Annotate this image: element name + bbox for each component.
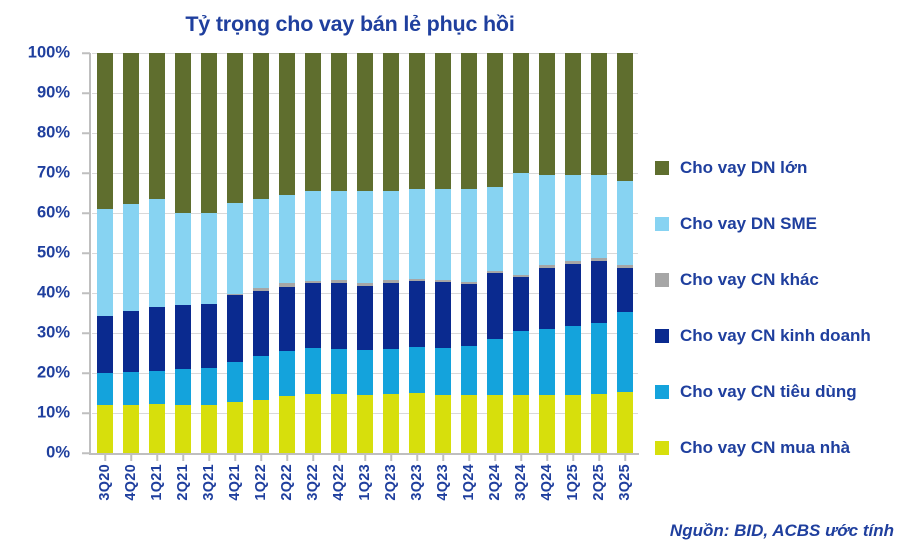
x-axis-label-3Q21: 3Q21 <box>201 464 217 501</box>
x-tick-mark <box>260 455 262 461</box>
y-tick-label-20: 20% <box>37 364 70 383</box>
bar-segment-cn_tieu_dung[interactable] <box>201 368 217 405</box>
bar-stack <box>97 53 113 453</box>
x-axis-label-2Q24: 2Q24 <box>487 464 503 501</box>
bar-segment-cn_mua_nha[interactable] <box>97 405 113 453</box>
bar-segment-cn_kinh_doanh[interactable] <box>253 291 269 356</box>
bar-segment-cn_mua_nha[interactable] <box>383 394 399 453</box>
legend-swatch-icon-cn_mua_nha <box>655 441 669 455</box>
bar-segment-dn_sme[interactable] <box>617 181 633 265</box>
bar-segment-dn_lon[interactable] <box>461 53 477 189</box>
bar-segment-cn_tieu_dung[interactable] <box>409 347 425 393</box>
bar-segment-dn_sme[interactable] <box>409 189 425 279</box>
x-label-cell: 3Q23 <box>404 455 430 515</box>
bar-segment-cn_mua_nha[interactable] <box>461 395 477 453</box>
bar-segment-cn_tieu_dung[interactable] <box>149 371 165 404</box>
bar-column-3Q21[interactable] <box>196 53 222 453</box>
bar-stack <box>513 53 529 453</box>
x-label-cell: 3Q24 <box>508 455 534 515</box>
x-axis-label-1Q24: 1Q24 <box>461 464 477 501</box>
legend-label: Cho vay CN tiêu dùng <box>680 382 857 402</box>
bar-column-1Q24[interactable] <box>456 53 482 453</box>
bar-column-4Q22[interactable] <box>326 53 352 453</box>
bar-stack <box>149 53 165 453</box>
y-tick-mark-50 <box>82 252 90 254</box>
bar-stack <box>539 53 555 453</box>
bar-segment-cn_tieu_dung[interactable] <box>331 349 347 394</box>
bar-segment-cn_kinh_doanh[interactable] <box>487 273 503 339</box>
x-axis-label-2Q22: 2Q22 <box>279 464 295 501</box>
bar-segment-cn_tieu_dung[interactable] <box>591 323 607 394</box>
bar-segment-cn_tieu_dung[interactable] <box>435 348 451 395</box>
bar-segment-dn_lon[interactable] <box>227 53 243 203</box>
legend-swatch-icon-dn_sme <box>655 217 669 231</box>
legend-swatch-icon-cn_tieu_dung <box>655 385 669 399</box>
x-tick-mark <box>312 455 314 461</box>
bar-stack <box>487 53 503 453</box>
x-label-cell: 4Q22 <box>326 455 352 515</box>
bar-segment-cn_tieu_dung[interactable] <box>461 346 477 395</box>
bar-stack <box>201 53 217 453</box>
bar-segment-dn_lon[interactable] <box>487 53 503 187</box>
plot-area <box>92 53 638 453</box>
x-tick-mark <box>104 455 106 461</box>
bar-segment-cn_mua_nha[interactable] <box>331 394 347 453</box>
y-tick-mark-0 <box>82 452 90 454</box>
bar-segment-dn_lon[interactable] <box>175 53 191 213</box>
x-label-cell: 2Q24 <box>482 455 508 515</box>
bar-segment-dn_lon[interactable] <box>383 53 399 191</box>
bar-segment-cn_mua_nha[interactable] <box>279 396 295 453</box>
bar-segment-dn_lon[interactable] <box>565 53 581 175</box>
x-tick-mark <box>390 455 392 461</box>
bar-column-1Q22[interactable] <box>248 53 274 453</box>
y-tick-label-100: 100% <box>28 44 70 63</box>
bar-segment-cn_mua_nha[interactable] <box>357 395 373 453</box>
x-axis-label-4Q24: 4Q24 <box>539 464 555 501</box>
legend-label: Cho vay CN kinh doanh <box>680 326 871 346</box>
bar-column-2Q23[interactable] <box>378 53 404 453</box>
y-tick-label-80: 80% <box>37 124 70 143</box>
x-axis-label-1Q23: 1Q23 <box>357 464 373 501</box>
y-tick-mark-90 <box>82 92 90 94</box>
bar-segment-dn_lon[interactable] <box>279 53 295 195</box>
bar-segment-dn_sme[interactable] <box>461 189 477 282</box>
x-tick-mark <box>286 455 288 461</box>
bar-segment-cn_tieu_dung[interactable] <box>97 373 113 405</box>
x-label-cell: 3Q22 <box>300 455 326 515</box>
bar-segment-dn_sme[interactable] <box>331 191 347 280</box>
bar-segment-dn_lon[interactable] <box>617 53 633 181</box>
bar-segment-dn_sme[interactable] <box>253 199 269 288</box>
x-axis-label-4Q23: 4Q23 <box>435 464 451 501</box>
bar-segment-cn_tieu_dung[interactable] <box>539 329 555 395</box>
bar-column-3Q22[interactable] <box>300 53 326 453</box>
x-label-cell: 2Q25 <box>586 455 612 515</box>
x-label-cell: 4Q23 <box>430 455 456 515</box>
chart-container: Tỷ trọng cho vay bán lẻ phục hồi 0%10%20… <box>0 0 906 553</box>
bar-segment-cn_tieu_dung[interactable] <box>253 356 269 400</box>
bar-segment-cn_tieu_dung[interactable] <box>565 326 581 395</box>
bar-segment-cn_kinh_doanh[interactable] <box>513 277 529 331</box>
x-axis-label-3Q25: 3Q25 <box>617 464 633 501</box>
bar-segment-dn_sme[interactable] <box>539 175 555 265</box>
y-axis: 0%10%20%30%40%50%60%70%80%90%100% <box>0 53 78 453</box>
bar-segment-cn_tieu_dung[interactable] <box>513 331 529 395</box>
bar-segment-cn_kinh_doanh[interactable] <box>331 283 347 349</box>
x-label-cell: 1Q22 <box>248 455 274 515</box>
bar-segment-dn_sme[interactable] <box>97 209 113 316</box>
bar-segment-dn_sme[interactable] <box>123 204 139 311</box>
bar-segment-cn_kinh_doanh[interactable] <box>227 295 243 362</box>
bar-segment-cn_tieu_dung[interactable] <box>305 348 321 394</box>
x-tick-mark <box>468 455 470 461</box>
bar-column-3Q24[interactable] <box>508 53 534 453</box>
bar-segment-dn_sme[interactable] <box>357 191 373 283</box>
bar-segment-cn_kinh_doanh[interactable] <box>435 282 451 348</box>
bar-segment-cn_kinh_doanh[interactable] <box>383 283 399 349</box>
x-axis-label-3Q22: 3Q22 <box>305 464 321 501</box>
x-tick-mark <box>520 455 522 461</box>
bar-segment-dn_lon[interactable] <box>331 53 347 191</box>
x-label-cell: 1Q21 <box>144 455 170 515</box>
bar-segment-dn_lon[interactable] <box>305 53 321 191</box>
x-axis-label-3Q24: 3Q24 <box>513 464 529 501</box>
y-tick-mark-40 <box>82 292 90 294</box>
bar-column-4Q24[interactable] <box>534 53 560 453</box>
bar-segment-cn_mua_nha[interactable] <box>487 395 503 453</box>
x-axis-label-4Q21: 4Q21 <box>227 464 243 501</box>
x-axis-label-1Q25: 1Q25 <box>565 464 581 501</box>
bar-segment-cn_kinh_doanh[interactable] <box>461 284 477 346</box>
x-tick-mark <box>442 455 444 461</box>
bar-segment-dn_lon[interactable] <box>591 53 607 175</box>
bar-segment-dn_sme[interactable] <box>227 203 243 294</box>
bar-stack <box>331 53 347 453</box>
bar-segment-dn_lon[interactable] <box>97 53 113 209</box>
bar-stack <box>565 53 581 453</box>
bar-stack <box>305 53 321 453</box>
bar-segment-cn_mua_nha[interactable] <box>513 395 529 453</box>
bar-segment-cn_tieu_dung[interactable] <box>383 349 399 394</box>
bar-stack <box>123 53 139 453</box>
bar-segment-dn_lon[interactable] <box>539 53 555 175</box>
bar-segment-dn_lon[interactable] <box>201 53 217 213</box>
x-tick-mark <box>364 455 366 461</box>
x-tick-mark <box>234 455 236 461</box>
y-tick-mark-30 <box>82 332 90 334</box>
bar-segment-cn_kinh_doanh[interactable] <box>175 305 191 369</box>
chart-legend: Cho vay DN lớnCho vay DN SMECho vay CN k… <box>655 140 905 476</box>
bar-segment-cn_tieu_dung[interactable] <box>617 312 633 392</box>
y-tick-label-70: 70% <box>37 164 70 183</box>
bar-stack <box>253 53 269 453</box>
bar-stack <box>279 53 295 453</box>
x-axis-label-2Q23: 2Q23 <box>383 464 399 501</box>
bar-segment-dn_lon[interactable] <box>149 53 165 199</box>
bar-segment-cn_mua_nha[interactable] <box>539 395 555 453</box>
bar-stack <box>435 53 451 453</box>
x-axis-label-4Q20: 4Q20 <box>123 464 139 501</box>
x-tick-mark <box>416 455 418 461</box>
bar-segment-cn_kinh_doanh[interactable] <box>591 261 607 323</box>
x-tick-mark <box>338 455 340 461</box>
bar-segment-cn_kinh_doanh[interactable] <box>565 264 581 326</box>
bar-segment-cn_kinh_doanh[interactable] <box>279 287 295 351</box>
x-tick-mark <box>208 455 210 461</box>
bar-column-4Q21[interactable] <box>222 53 248 453</box>
bar-column-4Q23[interactable] <box>430 53 456 453</box>
x-label-cell: 3Q20 <box>92 455 118 515</box>
x-label-cell: 2Q21 <box>170 455 196 515</box>
bar-stack <box>591 53 607 453</box>
bar-segment-cn_mua_nha[interactable] <box>435 395 451 453</box>
legend-label: Cho vay CN mua nhà <box>680 438 850 458</box>
y-tick-label-30: 30% <box>37 324 70 343</box>
bar-segment-cn_kinh_doanh[interactable] <box>149 307 165 371</box>
bar-column-2Q25[interactable] <box>586 53 612 453</box>
bar-segment-dn_sme[interactable] <box>591 175 607 258</box>
bar-column-1Q23[interactable] <box>352 53 378 453</box>
legend-label: Cho vay DN lớn <box>680 158 807 178</box>
bar-segment-cn_tieu_dung[interactable] <box>123 372 139 405</box>
bar-stack <box>357 53 373 453</box>
x-tick-mark <box>624 455 626 461</box>
source-note: Nguồn: BID, ACBS ước tính <box>670 521 894 541</box>
x-tick-mark <box>494 455 496 461</box>
bar-segment-cn_mua_nha[interactable] <box>149 404 165 453</box>
bar-segment-dn_lon[interactable] <box>513 53 529 173</box>
y-tick-label-0: 0% <box>46 444 70 463</box>
x-axis-label-4Q22: 4Q22 <box>331 464 347 501</box>
bar-column-4Q20[interactable] <box>118 53 144 453</box>
bar-segment-cn_mua_nha[interactable] <box>591 394 607 453</box>
bar-segment-cn_kinh_doanh[interactable] <box>617 268 633 312</box>
x-axis-labels: 3Q204Q201Q212Q213Q214Q211Q222Q223Q224Q22… <box>92 455 638 515</box>
bar-segment-cn_tieu_dung[interactable] <box>227 362 243 402</box>
x-tick-mark <box>546 455 548 461</box>
legend-item-dn_lon[interactable]: Cho vay DN lớn <box>655 140 905 196</box>
bar-segment-dn_lon[interactable] <box>435 53 451 189</box>
legend-item-cn_tieu_dung[interactable]: Cho vay CN tiêu dùng <box>655 364 905 420</box>
bar-segment-cn_tieu_dung[interactable] <box>279 351 295 396</box>
bar-stack <box>175 53 191 453</box>
bar-segment-cn_kinh_doanh[interactable] <box>357 286 373 350</box>
bar-segment-cn_tieu_dung[interactable] <box>357 350 373 395</box>
gridline-0 <box>92 453 638 454</box>
bar-segment-cn_mua_nha[interactable] <box>617 392 633 453</box>
bar-stack <box>409 53 425 453</box>
y-tick-label-10: 10% <box>37 404 70 423</box>
bar-segment-dn_sme[interactable] <box>305 191 321 281</box>
legend-item-cn_kinh_doanh[interactable]: Cho vay CN kinh doanh <box>655 308 905 364</box>
bar-segment-cn_mua_nha[interactable] <box>123 405 139 453</box>
bar-column-3Q23[interactable] <box>404 53 430 453</box>
y-tick-mark-100 <box>82 52 90 54</box>
x-axis-label-3Q20: 3Q20 <box>97 464 113 501</box>
bar-segment-dn_lon[interactable] <box>253 53 269 199</box>
bar-series-group <box>92 53 638 453</box>
bar-segment-cn_tieu_dung[interactable] <box>175 369 191 405</box>
x-tick-mark <box>598 455 600 461</box>
legend-label: Cho vay DN SME <box>680 214 817 234</box>
bar-segment-cn_kinh_doanh[interactable] <box>305 283 321 348</box>
bar-column-2Q22[interactable] <box>274 53 300 453</box>
bar-segment-cn_kinh_doanh[interactable] <box>97 316 113 373</box>
bar-stack <box>227 53 243 453</box>
bar-segment-dn_lon[interactable] <box>357 53 373 191</box>
x-label-cell: 4Q20 <box>118 455 144 515</box>
y-tick-mark-20 <box>82 372 90 374</box>
legend-swatch-icon-cn_kinh_doanh <box>655 329 669 343</box>
legend-item-dn_sme[interactable]: Cho vay DN SME <box>655 196 905 252</box>
bar-stack <box>461 53 477 453</box>
x-label-cell: 1Q24 <box>456 455 482 515</box>
bar-segment-cn_mua_nha[interactable] <box>175 405 191 453</box>
bar-segment-dn_sme[interactable] <box>149 199 165 307</box>
y-tick-mark-80 <box>82 132 90 134</box>
x-tick-mark <box>130 455 132 461</box>
x-label-cell: 3Q21 <box>196 455 222 515</box>
y-tick-label-50: 50% <box>37 244 70 263</box>
bar-column-3Q25[interactable] <box>612 53 638 453</box>
y-tick-label-90: 90% <box>37 84 70 103</box>
bar-segment-dn_sme[interactable] <box>279 195 295 283</box>
x-tick-mark <box>572 455 574 461</box>
x-axis-label-1Q21: 1Q21 <box>149 464 165 501</box>
x-axis-label-1Q22: 1Q22 <box>253 464 269 501</box>
x-label-cell: 4Q21 <box>222 455 248 515</box>
bar-segment-dn_sme[interactable] <box>435 189 451 280</box>
bar-column-1Q21[interactable] <box>144 53 170 453</box>
y-tick-mark-10 <box>82 412 90 414</box>
x-label-cell: 2Q22 <box>274 455 300 515</box>
bar-segment-cn_mua_nha[interactable] <box>409 393 425 453</box>
bar-segment-dn_sme[interactable] <box>487 187 503 271</box>
bar-segment-dn_sme[interactable] <box>201 213 217 304</box>
legend-label: Cho vay CN khác <box>680 270 819 290</box>
x-tick-mark <box>156 455 158 461</box>
x-label-cell: 2Q23 <box>378 455 404 515</box>
bar-segment-dn_lon[interactable] <box>409 53 425 189</box>
bar-segment-cn_mua_nha[interactable] <box>565 395 581 453</box>
x-label-cell: 1Q23 <box>352 455 378 515</box>
bar-segment-cn_mua_nha[interactable] <box>253 400 269 453</box>
x-axis-label-3Q23: 3Q23 <box>409 464 425 501</box>
bar-segment-cn_mua_nha[interactable] <box>201 405 217 453</box>
legend-item-cn_mua_nha[interactable]: Cho vay CN mua nhà <box>655 420 905 476</box>
x-label-cell: 3Q25 <box>612 455 638 515</box>
x-label-cell: 4Q24 <box>534 455 560 515</box>
legend-item-cn_khac[interactable]: Cho vay CN khác <box>655 252 905 308</box>
bar-column-2Q24[interactable] <box>482 53 508 453</box>
bar-column-1Q25[interactable] <box>560 53 586 453</box>
x-label-cell: 1Q25 <box>560 455 586 515</box>
y-tick-label-40: 40% <box>37 284 70 303</box>
bar-segment-cn_mua_nha[interactable] <box>305 394 321 453</box>
bar-segment-cn_kinh_doanh[interactable] <box>409 281 425 347</box>
bar-segment-dn_lon[interactable] <box>123 53 139 204</box>
bar-column-2Q21[interactable] <box>170 53 196 453</box>
bar-segment-cn_kinh_doanh[interactable] <box>201 304 217 368</box>
bar-column-3Q20[interactable] <box>92 53 118 453</box>
bar-stack <box>617 53 633 453</box>
y-tick-mark-70 <box>82 172 90 174</box>
legend-swatch-icon-dn_lon <box>655 161 669 175</box>
y-tick-mark-60 <box>82 212 90 214</box>
bar-segment-cn_kinh_doanh[interactable] <box>123 311 139 372</box>
legend-swatch-icon-cn_khac <box>655 273 669 287</box>
chart-title: Tỷ trọng cho vay bán lẻ phục hồi <box>0 12 700 37</box>
bar-stack <box>383 53 399 453</box>
bar-segment-dn_sme[interactable] <box>175 213 191 305</box>
x-axis-label-2Q21: 2Q21 <box>175 464 191 501</box>
bar-segment-dn_sme[interactable] <box>383 191 399 280</box>
y-tick-label-60: 60% <box>37 204 70 223</box>
x-axis-label-2Q25: 2Q25 <box>591 464 607 501</box>
bar-segment-cn_kinh_doanh[interactable] <box>539 268 555 329</box>
bar-segment-cn_tieu_dung[interactable] <box>487 339 503 395</box>
bar-segment-cn_mua_nha[interactable] <box>227 402 243 453</box>
bar-segment-dn_sme[interactable] <box>513 173 529 275</box>
x-tick-mark <box>182 455 184 461</box>
bar-segment-dn_sme[interactable] <box>565 175 581 261</box>
